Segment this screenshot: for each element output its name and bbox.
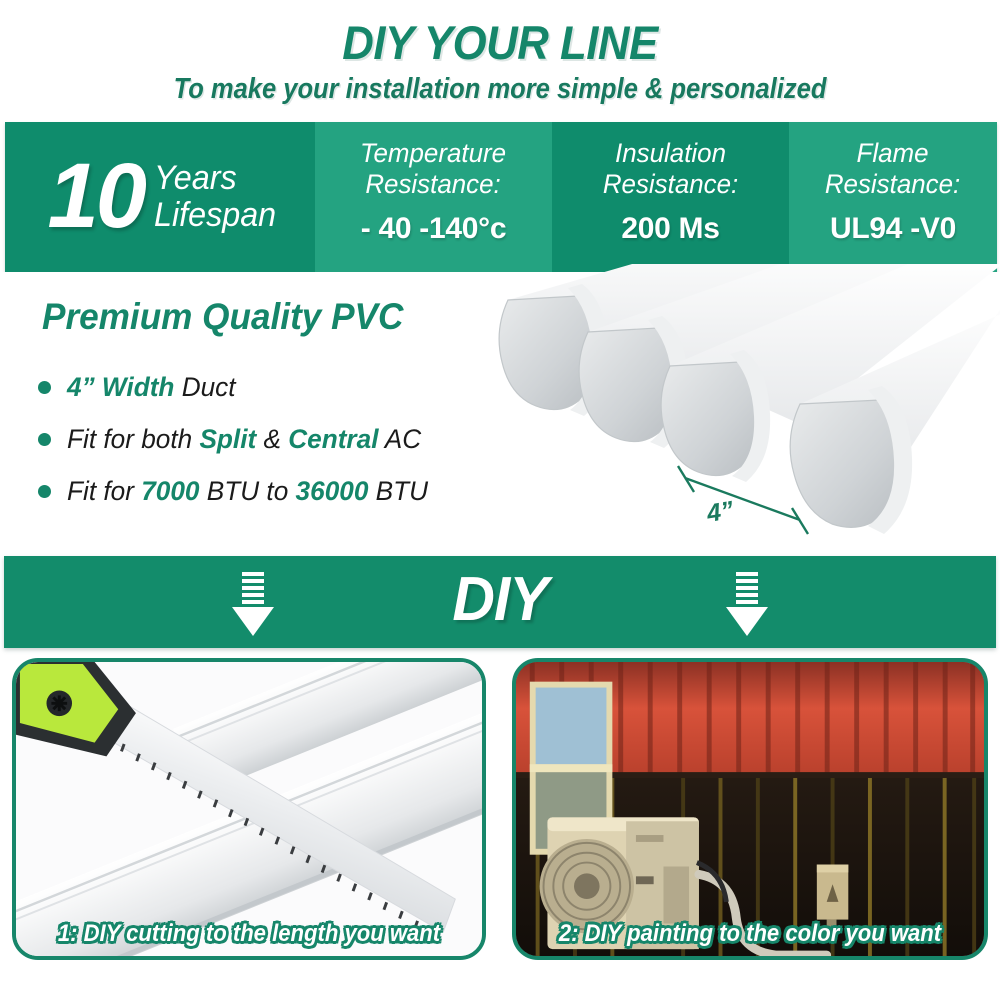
spec-cell-lifespan: 10 Years Lifespan: [5, 122, 315, 272]
page-subtitle: To make your installation more simple & …: [60, 73, 940, 106]
spec-label-line2: Resistance:: [825, 169, 960, 200]
bullet-text-1: 4” Width Duct: [67, 372, 236, 403]
outdoor-ac-condenser-on-metal-wall-photo: [516, 662, 984, 959]
spec-value-flame: UL94 -V0: [789, 212, 997, 246]
bullet-strong: Split: [199, 424, 256, 454]
bullet-text-3: Fit for 7000 BTU to 36000 BTU: [67, 476, 428, 507]
diy-label: DIY: [29, 564, 971, 635]
bullet-strong2: Central: [288, 424, 378, 454]
header: DIY YOUR LINE To make your installation …: [0, 0, 1000, 106]
lifespan-unit: Years: [154, 160, 276, 197]
spec-label-insulation: Insulation Resistance:: [603, 138, 738, 200]
diy-steps: 1: DIY cutting to the length you want: [0, 658, 1000, 1000]
spec-label-line1: Insulation: [603, 138, 738, 169]
bullet-rest: BTU: [368, 476, 428, 506]
duct-width-label: 4”: [705, 496, 736, 529]
spec-label-line1: Flame: [825, 138, 960, 169]
product-section: Premium Quality PVC 4” Width Duct Fit fo…: [0, 272, 1000, 548]
bullet-pre: Fit for: [67, 476, 141, 506]
spec-cell-temperature: Temperature Resistance: - 40 -140°c: [315, 122, 552, 272]
feature-bullet-list: 4” Width Duct Fit for both Split & Centr…: [38, 372, 439, 528]
bullet-strong: 4” Width: [67, 372, 174, 402]
bullet-dot-icon: [38, 485, 51, 498]
spec-label-temperature: Temperature Resistance:: [360, 138, 506, 200]
spec-value-temperature: - 40 -140°c: [315, 212, 552, 246]
bullet-mid: BTU to: [199, 476, 295, 506]
bullet-dot-icon: [38, 381, 51, 394]
spec-value-insulation: 200 Ms: [552, 212, 789, 246]
page-title: DIY YOUR LINE: [35, 18, 965, 67]
diy-band: DIY: [4, 556, 996, 648]
bullet-rest: AC: [378, 424, 421, 454]
step-2-panel: 2: DIY painting to the color you want: [512, 658, 988, 960]
bullet-strong: 7000: [141, 476, 199, 506]
spec-band: 10 Years Lifespan Temperature Resistance…: [5, 122, 997, 272]
spec-label-line1: Temperature: [360, 138, 506, 169]
spec-label-flame: Flame Resistance:: [825, 138, 960, 200]
bullet-strong2: 36000: [296, 476, 369, 506]
bullet-rest: Duct: [174, 372, 235, 402]
lifespan-number: 10: [48, 157, 144, 236]
saw-cutting-pvc-duct-photo: [16, 662, 482, 959]
spec-label-line2: Resistance:: [360, 169, 506, 200]
step-2-caption: 2: DIY painting to the color you want: [535, 920, 966, 948]
spec-label-line2: Resistance:: [603, 169, 738, 200]
step-1-caption: 1: DIY cutting to the length you want: [35, 920, 464, 948]
step-1-panel: 1: DIY cutting to the length you want: [12, 658, 486, 960]
spec-cell-flame: Flame Resistance: UL94 -V0: [789, 122, 997, 272]
infographic-page: DIY YOUR LINE To make your installation …: [0, 0, 1000, 1000]
list-item: Fit for both Split & Central AC: [38, 424, 439, 455]
bullet-mid: &: [256, 424, 288, 454]
spec-cell-insulation: Insulation Resistance: 200 Ms: [552, 122, 789, 272]
list-item: Fit for 7000 BTU to 36000 BTU: [38, 476, 439, 507]
down-arrow-icon-right: [716, 570, 776, 638]
pvc-duct-illustration: [470, 264, 1000, 544]
lifespan-word: Lifespan: [154, 197, 276, 234]
bullet-pre: Fit for both: [67, 424, 199, 454]
lifespan-words: Years Lifespan: [154, 160, 276, 233]
bullet-dot-icon: [38, 433, 51, 446]
list-item: 4” Width Duct: [38, 372, 439, 403]
lifespan-row: 10 Years Lifespan: [38, 157, 283, 236]
bullet-text-2: Fit for both Split & Central AC: [67, 424, 421, 455]
product-heading: Premium Quality PVC: [42, 296, 403, 338]
